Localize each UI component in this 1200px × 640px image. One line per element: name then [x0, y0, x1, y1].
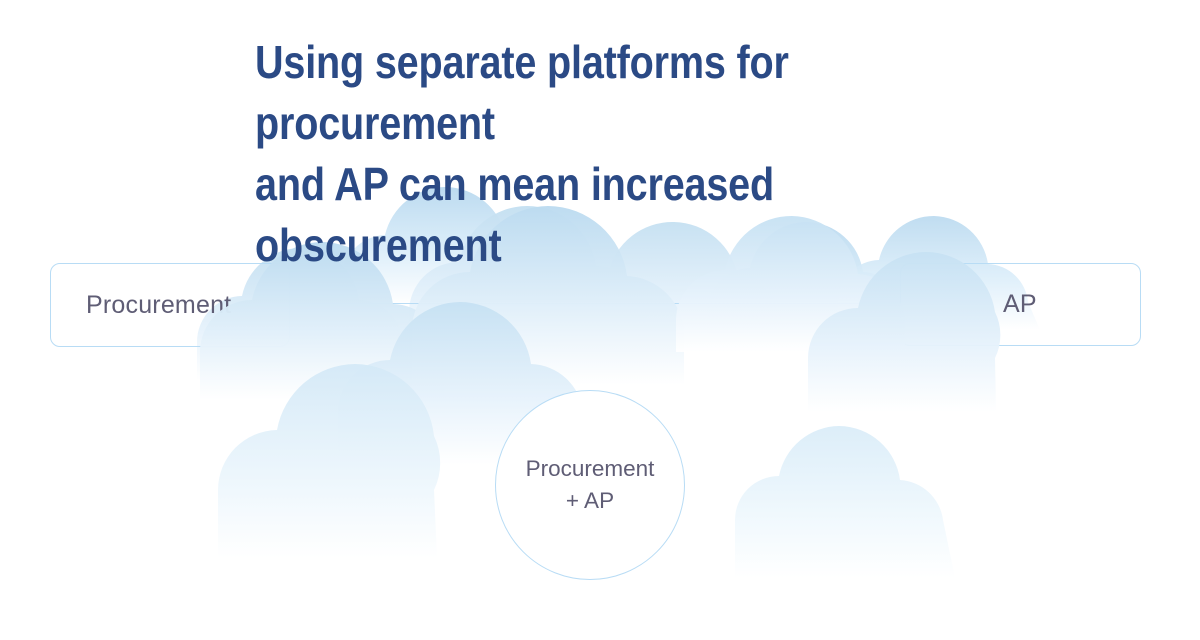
ap-panel[interactable]: AP: [900, 263, 1141, 346]
procurement-panel[interactable]: Procurement: [50, 263, 290, 347]
slide-canvas: Procurement AP: [0, 0, 1200, 640]
circle-label-line-1: Procurement: [526, 453, 655, 485]
procurement-plus-ap-circle[interactable]: Procurement + AP: [495, 390, 685, 580]
page-title: Using separate platforms for procurement…: [255, 32, 909, 276]
procurement-panel-label: Procurement: [86, 291, 231, 320]
ap-panel-label: AP: [1003, 290, 1037, 319]
circle-label-line-2: + AP: [566, 485, 614, 517]
connector-line: [289, 303, 901, 304]
